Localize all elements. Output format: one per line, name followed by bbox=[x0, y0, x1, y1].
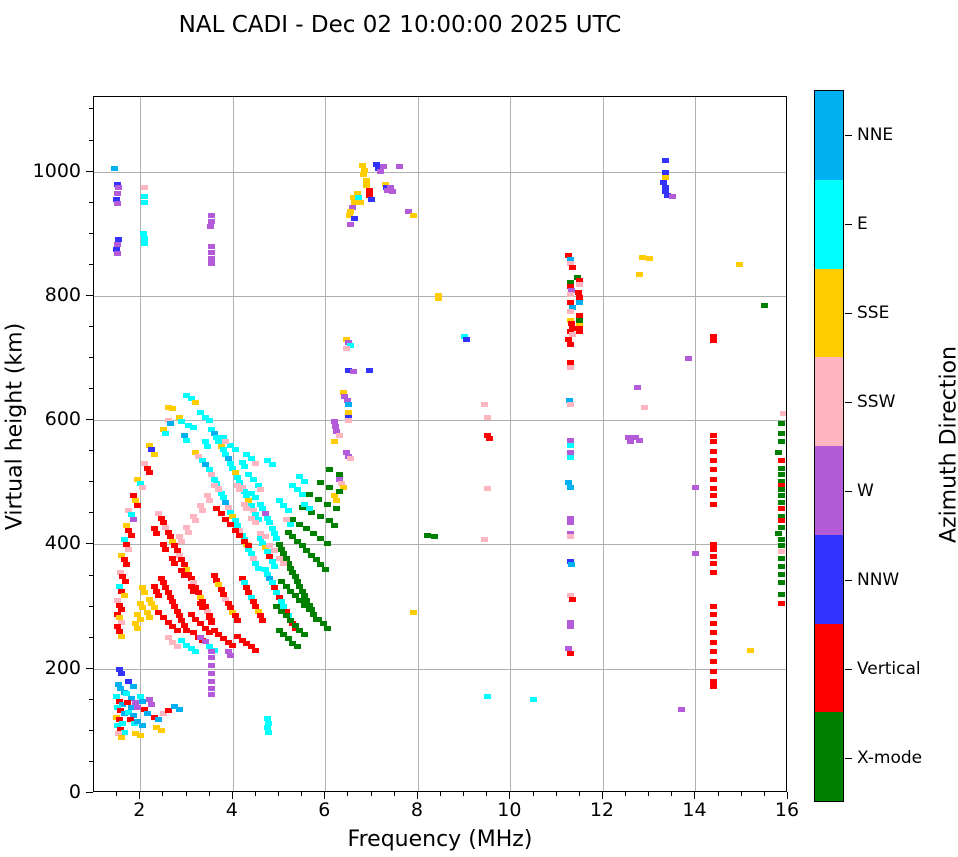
data-point bbox=[484, 486, 491, 491]
x-axis-minor-tick bbox=[764, 792, 765, 796]
data-point bbox=[141, 185, 148, 190]
data-point bbox=[232, 447, 239, 452]
data-point bbox=[710, 612, 717, 617]
gridline-horizontal bbox=[94, 544, 786, 545]
data-point bbox=[636, 438, 643, 443]
data-point bbox=[299, 492, 306, 497]
data-point bbox=[208, 244, 215, 249]
data-point bbox=[176, 707, 183, 712]
data-point bbox=[669, 194, 676, 199]
data-point bbox=[121, 593, 128, 598]
data-point bbox=[146, 470, 153, 475]
y-axis-tick bbox=[86, 419, 93, 420]
data-point bbox=[215, 487, 222, 492]
data-point bbox=[208, 250, 215, 255]
x-axis-tick-label: 10 bbox=[497, 799, 521, 821]
data-point bbox=[778, 564, 785, 569]
data-point bbox=[389, 189, 396, 194]
data-point bbox=[208, 679, 215, 684]
data-point bbox=[331, 439, 338, 444]
x-axis-minor-tick bbox=[671, 792, 672, 796]
data-point bbox=[125, 547, 132, 552]
data-point bbox=[567, 624, 574, 629]
colorbar-tick bbox=[845, 135, 852, 136]
data-point bbox=[484, 694, 491, 699]
data-point bbox=[208, 692, 215, 697]
data-point bbox=[317, 536, 324, 541]
data-point bbox=[114, 251, 121, 256]
data-point bbox=[634, 385, 641, 390]
data-point bbox=[134, 503, 141, 508]
data-point bbox=[255, 566, 262, 571]
data-point bbox=[710, 659, 717, 664]
data-point bbox=[710, 561, 717, 566]
data-point bbox=[241, 464, 248, 469]
data-point bbox=[114, 201, 121, 206]
y-axis-minor-tick bbox=[89, 575, 93, 576]
data-point bbox=[269, 462, 276, 467]
data-point bbox=[130, 517, 137, 522]
data-point bbox=[301, 479, 308, 484]
data-point bbox=[208, 671, 215, 676]
data-point bbox=[710, 449, 717, 454]
data-point bbox=[336, 472, 343, 477]
data-point bbox=[185, 530, 192, 535]
x-axis-minor-tick bbox=[347, 792, 348, 796]
data-point bbox=[778, 525, 785, 530]
data-point bbox=[303, 526, 310, 531]
data-point bbox=[128, 533, 135, 538]
data-point bbox=[567, 309, 574, 314]
data-point bbox=[576, 282, 583, 287]
data-point bbox=[208, 213, 215, 218]
data-point bbox=[134, 705, 141, 710]
data-point bbox=[218, 511, 225, 516]
x-axis-minor-tick bbox=[440, 792, 441, 796]
y-axis-tick-label: 0 bbox=[11, 781, 81, 803]
x-axis-minor-tick bbox=[648, 792, 649, 796]
data-point bbox=[137, 733, 144, 738]
data-point bbox=[265, 730, 272, 735]
data-point bbox=[333, 506, 340, 511]
data-point bbox=[627, 439, 634, 444]
colorbar-segment-w[interactable] bbox=[815, 446, 843, 535]
data-point bbox=[141, 200, 148, 205]
data-point bbox=[710, 502, 717, 507]
x-axis-tick bbox=[324, 792, 325, 799]
data-point bbox=[155, 717, 162, 722]
x-axis-minor-tick bbox=[741, 792, 742, 796]
y-axis-tick bbox=[86, 171, 93, 172]
data-point bbox=[747, 648, 754, 653]
x-axis-minor-tick bbox=[625, 792, 626, 796]
x-axis-tick bbox=[232, 792, 233, 799]
data-point bbox=[567, 365, 574, 370]
data-point bbox=[306, 492, 313, 497]
data-point bbox=[692, 485, 699, 490]
data-point bbox=[115, 185, 122, 190]
x-axis-minor-tick bbox=[533, 792, 534, 796]
colorbar-segment-x-mode[interactable] bbox=[815, 712, 843, 801]
data-point bbox=[139, 485, 146, 490]
data-point bbox=[183, 628, 190, 633]
data-point bbox=[130, 684, 137, 689]
colorbar[interactable] bbox=[814, 90, 844, 802]
data-point bbox=[692, 551, 699, 556]
data-point bbox=[336, 489, 343, 494]
data-point bbox=[118, 735, 125, 740]
data-point bbox=[153, 531, 160, 536]
data-point bbox=[206, 498, 213, 503]
data-point bbox=[174, 628, 181, 633]
data-point bbox=[257, 487, 264, 492]
data-point bbox=[710, 486, 717, 491]
colorbar-tick bbox=[845, 580, 852, 581]
data-point bbox=[778, 493, 785, 498]
data-point bbox=[435, 296, 442, 301]
data-point bbox=[236, 487, 243, 492]
data-point bbox=[151, 452, 158, 457]
data-point bbox=[357, 200, 364, 205]
data-point bbox=[111, 166, 118, 171]
y-axis-minor-tick bbox=[89, 233, 93, 234]
x-axis-tick bbox=[139, 792, 140, 799]
data-point bbox=[273, 536, 280, 541]
colorbar-segment-ssw[interactable] bbox=[815, 357, 843, 446]
data-point bbox=[322, 567, 329, 572]
y-axis-tick bbox=[86, 668, 93, 669]
data-point bbox=[204, 444, 211, 449]
data-point bbox=[324, 502, 331, 507]
data-point bbox=[207, 224, 214, 229]
data-point bbox=[685, 356, 692, 361]
data-point bbox=[576, 329, 583, 334]
data-point bbox=[778, 487, 785, 492]
data-point bbox=[778, 506, 785, 511]
data-point bbox=[778, 549, 785, 554]
data-point bbox=[333, 498, 340, 503]
data-point bbox=[761, 303, 768, 308]
y-axis-minor-tick bbox=[89, 326, 93, 327]
colorbar-label-vertical: Vertical bbox=[857, 659, 921, 679]
data-point bbox=[710, 338, 717, 343]
data-point bbox=[778, 601, 785, 606]
data-point bbox=[424, 533, 431, 538]
data-point bbox=[567, 520, 574, 525]
data-point bbox=[245, 543, 252, 548]
data-point bbox=[236, 533, 243, 538]
data-point bbox=[463, 337, 470, 342]
data-point bbox=[368, 197, 375, 202]
plot-area bbox=[93, 96, 787, 792]
colorbar-label-nne: NNE bbox=[857, 125, 893, 145]
y-axis-tick-label: 800 bbox=[11, 284, 81, 306]
data-point bbox=[139, 605, 146, 610]
data-point bbox=[710, 621, 717, 626]
x-axis-minor-tick bbox=[186, 792, 187, 796]
data-point bbox=[208, 655, 215, 660]
data-point bbox=[775, 450, 782, 455]
data-point bbox=[567, 455, 574, 460]
y-axis-minor-tick bbox=[89, 264, 93, 265]
data-point bbox=[287, 522, 294, 527]
data-point bbox=[114, 191, 121, 196]
data-point bbox=[710, 684, 717, 689]
data-point bbox=[296, 522, 303, 527]
data-point bbox=[243, 506, 250, 511]
data-point bbox=[162, 431, 169, 436]
data-point bbox=[271, 548, 278, 553]
y-axis-minor-tick bbox=[89, 202, 93, 203]
data-point bbox=[222, 439, 229, 444]
x-axis-label: Frequency (MHz) bbox=[93, 827, 787, 852]
data-point bbox=[345, 402, 352, 407]
data-point bbox=[317, 514, 324, 519]
y-axis-minor-tick bbox=[89, 512, 93, 513]
data-point bbox=[306, 506, 313, 511]
colorbar-tick bbox=[845, 313, 852, 314]
colorbar-label-ssw: SSW bbox=[857, 392, 895, 412]
data-point bbox=[710, 669, 717, 674]
y-axis-minor-tick bbox=[89, 699, 93, 700]
data-point bbox=[208, 649, 215, 654]
data-point bbox=[486, 436, 493, 441]
data-point bbox=[710, 433, 717, 438]
data-point bbox=[343, 346, 350, 351]
data-point bbox=[710, 493, 717, 498]
data-point bbox=[280, 561, 287, 566]
data-point bbox=[326, 485, 333, 490]
data-point bbox=[174, 644, 181, 649]
data-point bbox=[139, 699, 146, 704]
data-point bbox=[158, 728, 165, 733]
colorbar-tick bbox=[845, 402, 852, 403]
data-point bbox=[710, 477, 717, 482]
x-axis-minor-tick bbox=[301, 792, 302, 796]
data-point bbox=[775, 531, 782, 536]
page-title: NAL CADI - Dec 02 10:00:00 2025 UTC bbox=[0, 12, 800, 38]
x-axis-minor-tick bbox=[394, 792, 395, 796]
data-point bbox=[139, 723, 146, 728]
data-point bbox=[366, 368, 373, 373]
data-point bbox=[567, 485, 574, 490]
data-point bbox=[778, 556, 785, 561]
data-point bbox=[484, 415, 491, 420]
data-point bbox=[181, 573, 188, 578]
data-point bbox=[134, 626, 141, 631]
x-axis-minor-tick bbox=[486, 792, 487, 796]
data-point bbox=[567, 402, 574, 407]
data-point bbox=[567, 443, 574, 448]
data-point bbox=[360, 172, 367, 177]
y-axis-minor-tick bbox=[89, 761, 93, 762]
gridline-horizontal bbox=[94, 172, 786, 173]
x-axis-minor-tick bbox=[718, 792, 719, 796]
data-point bbox=[199, 605, 206, 610]
colorbar-tick bbox=[845, 758, 852, 759]
data-point bbox=[641, 405, 648, 410]
data-point bbox=[710, 467, 717, 472]
data-point bbox=[347, 456, 354, 461]
data-point bbox=[778, 543, 785, 548]
y-axis-minor-tick bbox=[89, 730, 93, 731]
gridline-vertical bbox=[418, 97, 419, 791]
data-point bbox=[431, 534, 438, 539]
y-axis-tick-label: 200 bbox=[11, 657, 81, 679]
x-axis-tick bbox=[694, 792, 695, 799]
gridline-vertical bbox=[325, 97, 326, 791]
colorbar-label-nnw: NNW bbox=[857, 570, 899, 590]
data-point bbox=[141, 590, 148, 595]
data-point bbox=[271, 564, 278, 569]
colorbar-label-e: E bbox=[857, 214, 868, 234]
data-point bbox=[377, 169, 384, 174]
data-point bbox=[310, 531, 317, 536]
gridline-vertical bbox=[510, 97, 511, 791]
data-point bbox=[192, 518, 199, 523]
data-point bbox=[736, 262, 743, 267]
data-point bbox=[639, 255, 646, 260]
x-axis-tick-label: 8 bbox=[411, 799, 423, 821]
data-point bbox=[710, 640, 717, 645]
data-point bbox=[144, 711, 151, 716]
data-point bbox=[345, 418, 352, 423]
y-axis-minor-tick bbox=[89, 637, 93, 638]
data-point bbox=[710, 604, 717, 609]
x-axis-minor-tick bbox=[209, 792, 210, 796]
data-point bbox=[710, 570, 717, 575]
data-point bbox=[569, 597, 576, 602]
data-point bbox=[778, 458, 785, 463]
x-axis-tick bbox=[509, 792, 510, 799]
colorbar-label-w: W bbox=[857, 481, 874, 501]
data-point bbox=[190, 425, 197, 430]
x-axis-minor-tick bbox=[278, 792, 279, 796]
data-point bbox=[410, 610, 417, 615]
data-point bbox=[662, 158, 669, 163]
data-point bbox=[710, 649, 717, 654]
x-axis-minor-tick bbox=[255, 792, 256, 796]
y-axis-minor-tick bbox=[89, 450, 93, 451]
colorbar-tick bbox=[845, 669, 852, 670]
x-axis-tick bbox=[787, 792, 788, 799]
data-point bbox=[167, 421, 174, 426]
data-point bbox=[678, 707, 685, 712]
data-point bbox=[530, 697, 537, 702]
data-point bbox=[576, 300, 583, 305]
colorbar-segment-e[interactable] bbox=[815, 180, 843, 269]
colorbar-segment-nnw[interactable] bbox=[815, 535, 843, 624]
data-point bbox=[118, 671, 125, 676]
data-point bbox=[568, 562, 575, 567]
data-point bbox=[285, 508, 292, 513]
data-point bbox=[567, 342, 574, 347]
y-axis-minor-tick bbox=[89, 481, 93, 482]
data-point bbox=[780, 411, 787, 416]
data-point bbox=[178, 539, 185, 544]
data-point bbox=[710, 547, 717, 552]
data-point bbox=[250, 477, 257, 482]
colorbar-segment-nne[interactable] bbox=[815, 91, 843, 180]
data-point bbox=[778, 431, 785, 436]
data-point bbox=[778, 518, 785, 523]
data-point bbox=[331, 523, 338, 528]
y-axis-minor-tick bbox=[89, 108, 93, 109]
data-point bbox=[710, 630, 717, 635]
colorbar-label-x-mode: X-mode bbox=[857, 748, 922, 768]
x-axis-tick-label: 6 bbox=[318, 799, 330, 821]
data-point bbox=[169, 406, 176, 411]
data-point bbox=[567, 651, 574, 656]
y-axis-tick bbox=[86, 543, 93, 544]
data-point bbox=[481, 402, 488, 407]
data-point bbox=[569, 265, 576, 270]
data-point bbox=[567, 534, 574, 539]
data-point bbox=[351, 216, 358, 221]
data-point bbox=[567, 292, 574, 297]
y-axis-tick-label: 1000 bbox=[11, 160, 81, 182]
data-point bbox=[171, 561, 178, 566]
data-point bbox=[165, 708, 172, 713]
x-axis-minor-tick bbox=[162, 792, 163, 796]
data-point bbox=[192, 400, 199, 405]
gridline-vertical bbox=[603, 97, 604, 791]
data-point bbox=[778, 466, 785, 471]
data-point bbox=[380, 164, 387, 169]
gridline-horizontal bbox=[94, 420, 786, 421]
data-point bbox=[234, 618, 241, 623]
data-point bbox=[155, 593, 162, 598]
colorbar-segment-vertical[interactable] bbox=[815, 624, 843, 713]
data-point bbox=[396, 164, 403, 169]
y-axis-minor-tick bbox=[89, 388, 93, 389]
data-point bbox=[262, 534, 269, 539]
data-point bbox=[778, 421, 785, 426]
data-point bbox=[190, 589, 197, 594]
y-axis-tick bbox=[86, 295, 93, 296]
data-point bbox=[206, 418, 213, 423]
data-point bbox=[227, 522, 234, 527]
colorbar-segment-sse[interactable] bbox=[815, 269, 843, 358]
ionogram-figure: NAL CADI - Dec 02 10:00:00 2025 UTC Virt… bbox=[0, 0, 958, 857]
x-axis-minor-tick bbox=[371, 792, 372, 796]
data-point bbox=[123, 562, 130, 567]
data-point bbox=[710, 439, 717, 444]
data-point bbox=[192, 649, 199, 654]
data-point bbox=[208, 261, 215, 266]
x-axis-minor-tick bbox=[463, 792, 464, 796]
data-point bbox=[227, 653, 234, 658]
data-point bbox=[252, 520, 259, 525]
y-axis-minor-tick bbox=[89, 357, 93, 358]
data-point bbox=[324, 626, 331, 631]
data-point bbox=[178, 419, 185, 424]
data-point bbox=[122, 579, 129, 584]
colorbar-tick bbox=[845, 491, 852, 492]
y-axis-tick-label: 600 bbox=[11, 408, 81, 430]
data-point bbox=[410, 213, 417, 218]
data-point bbox=[778, 500, 785, 505]
data-point bbox=[778, 592, 785, 597]
data-point bbox=[118, 634, 125, 639]
data-point bbox=[229, 643, 236, 648]
x-axis-tick-label: 12 bbox=[590, 799, 614, 821]
data-point bbox=[324, 541, 331, 546]
data-point bbox=[778, 580, 785, 585]
data-point bbox=[778, 439, 785, 444]
colorbar-label-sse: SSE bbox=[857, 303, 889, 323]
x-axis-tick-label: 4 bbox=[226, 799, 238, 821]
